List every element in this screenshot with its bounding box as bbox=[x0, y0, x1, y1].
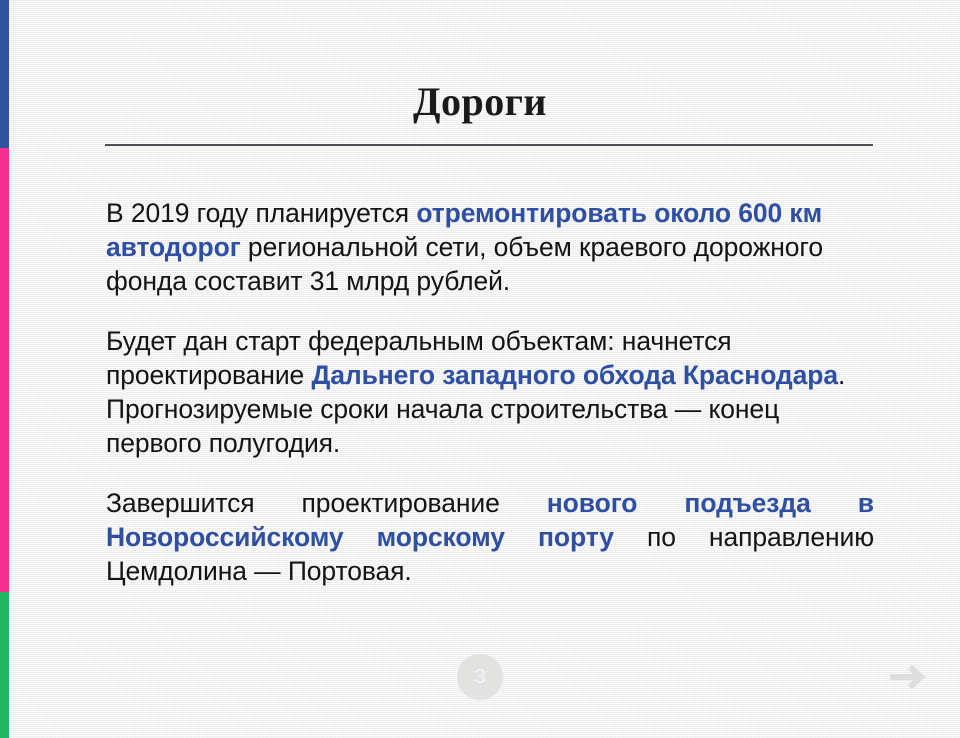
page-number-badge: 3 bbox=[457, 654, 503, 700]
paragraph-novorossiysk-port: Завершится проектирование нового подъезд… bbox=[106, 486, 874, 588]
paragraph-3-lead: Завершится проектирование bbox=[106, 488, 547, 518]
paragraph-federal-projects: Будет дан старт федеральным объектам: на… bbox=[106, 324, 874, 460]
accent-stripe-segment-pink bbox=[0, 148, 9, 592]
accent-stripe-segment-green bbox=[0, 592, 9, 738]
title-divider bbox=[105, 144, 873, 146]
slide-title: Дороги bbox=[0, 80, 960, 124]
paragraph-roads-repair: В 2019 году планируется отремонтировать … bbox=[106, 196, 874, 298]
presentation-slide: Дороги В 2019 году планируется отремонти… bbox=[0, 0, 960, 738]
accent-stripe-segment-blue bbox=[0, 0, 9, 148]
slide-body: В 2019 году планируется отремонтировать … bbox=[106, 196, 874, 588]
next-slide-arrow-icon[interactable] bbox=[888, 660, 932, 694]
paragraph-1-lead: В 2019 году планируется bbox=[106, 198, 416, 228]
paragraph-2-highlight: Дальнего западного обхода Краснодара bbox=[311, 360, 838, 390]
accent-stripe bbox=[0, 0, 9, 738]
